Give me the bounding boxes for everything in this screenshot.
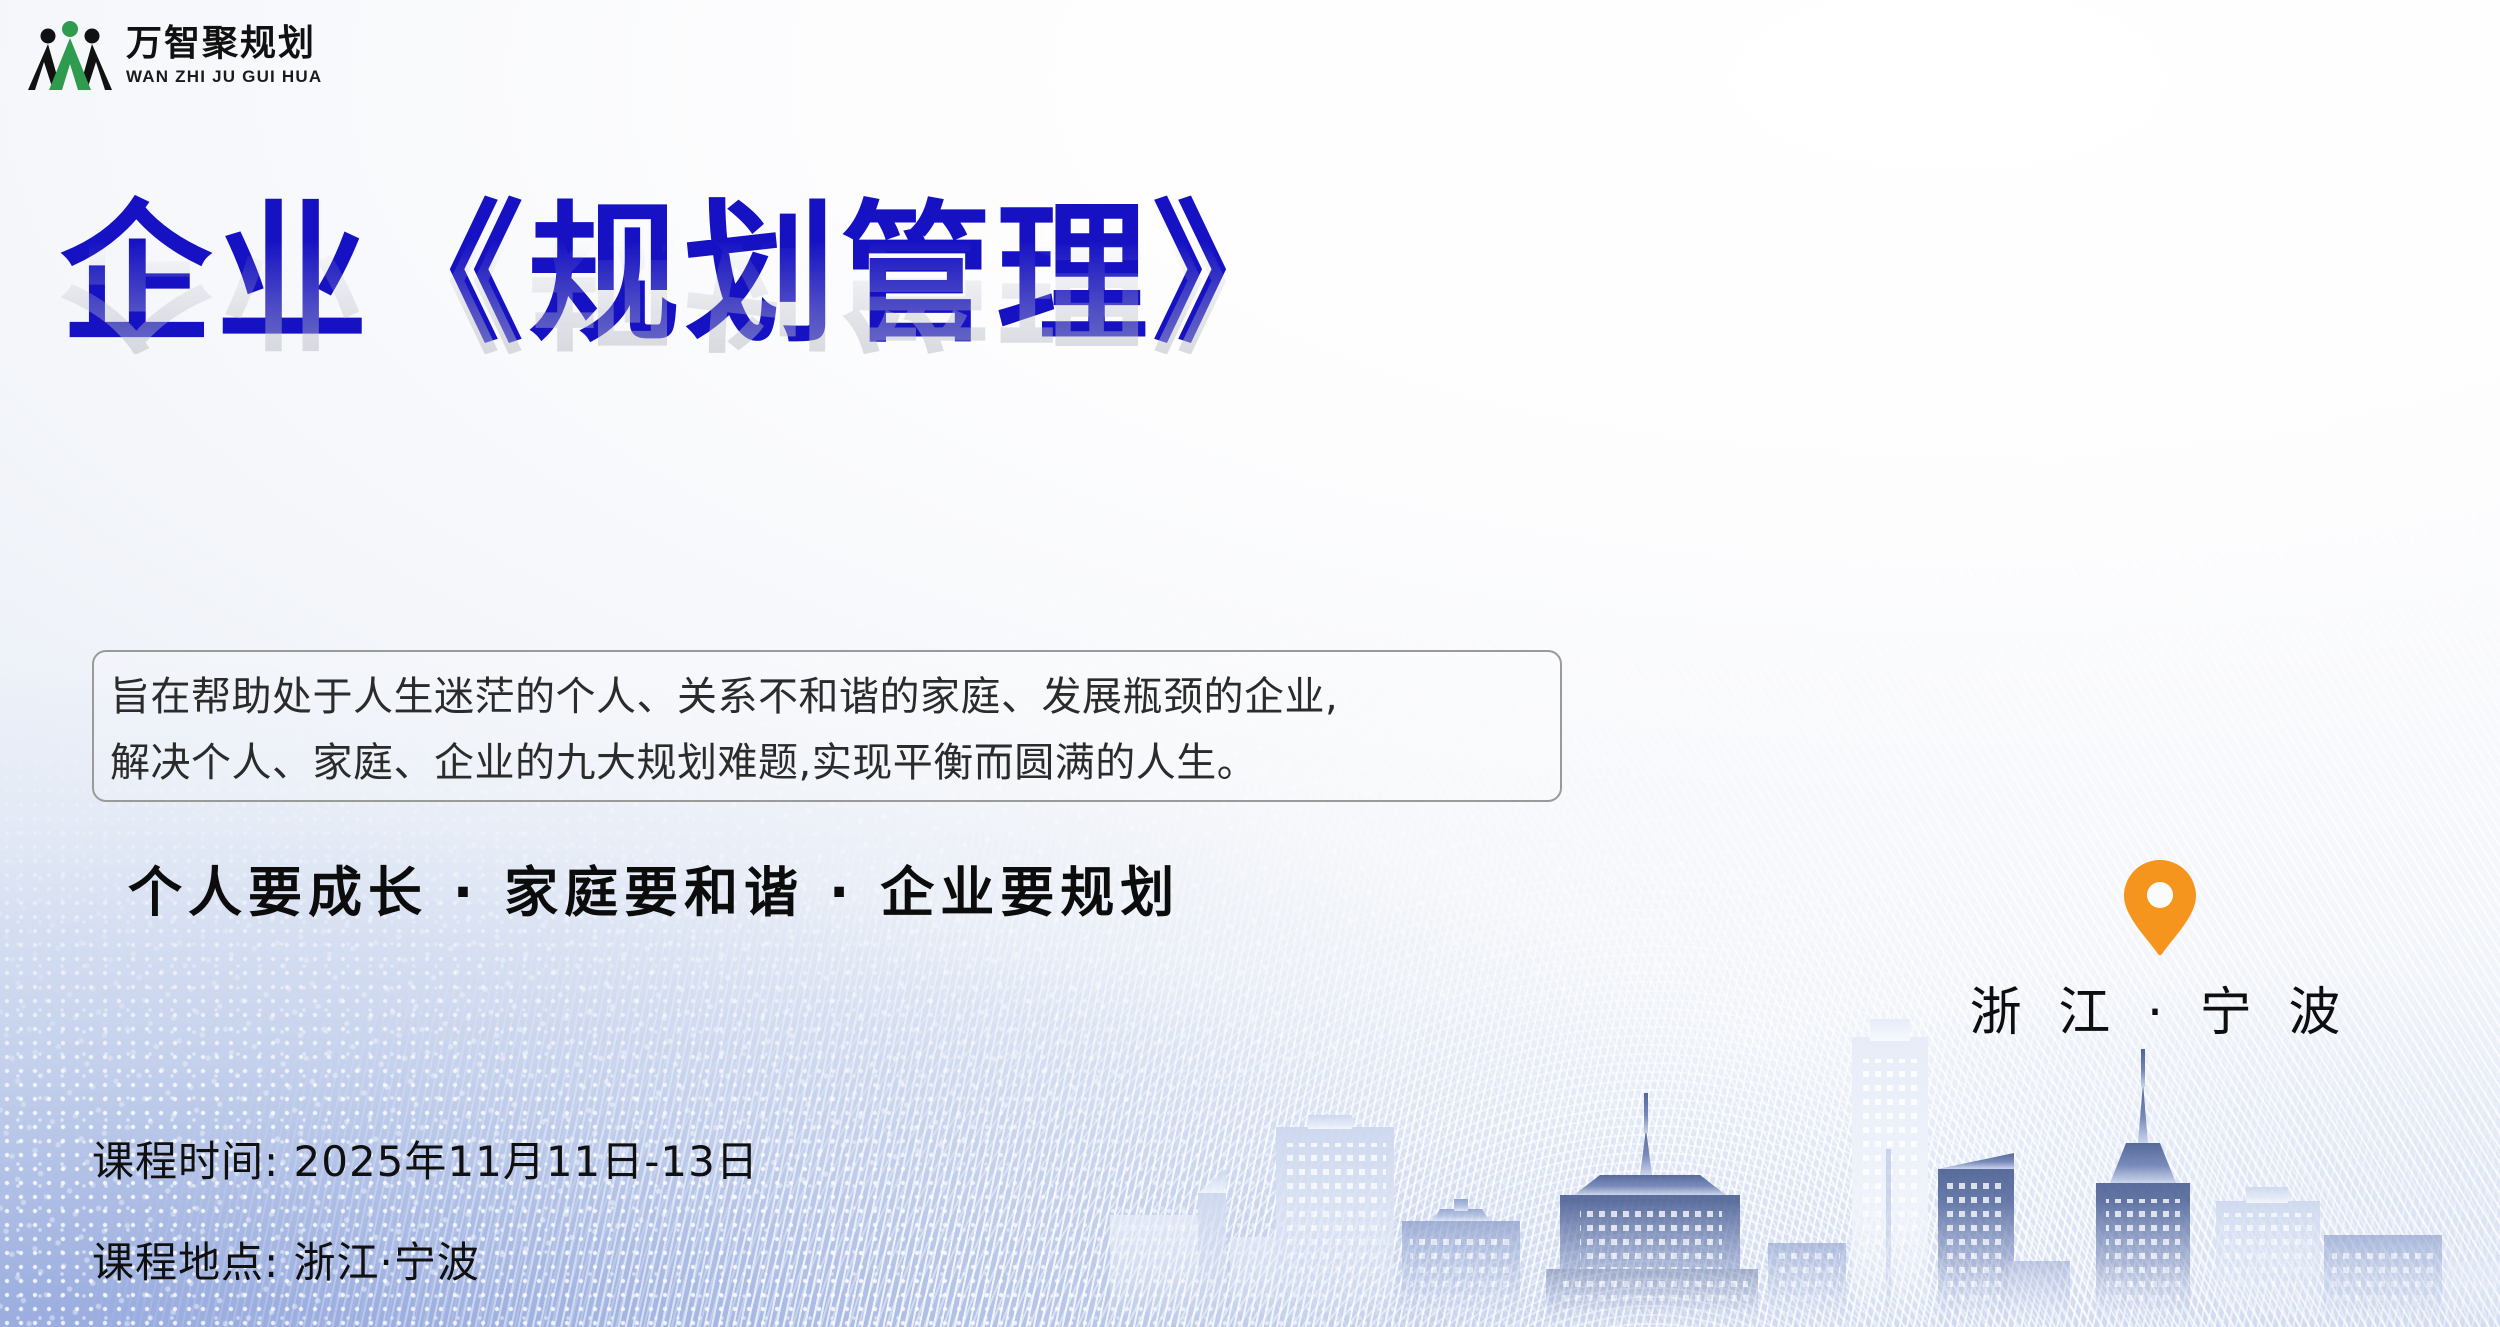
- city-skyline-icon: [1080, 997, 2500, 1327]
- headline-block: 企业《规划管理》 企业《规划管理》: [60, 196, 1620, 512]
- course-place-row: 课程地点: 浙江·宁波: [92, 1229, 759, 1290]
- brand-name-en: WAN ZHI JU GUI HUA: [126, 68, 322, 85]
- poster-canvas: 万智聚规划 WAN ZHI JU GUI HUA 企业《规划管理》 企业《规划管…: [0, 0, 2500, 1327]
- description-line-2: 解决个人、家庭、企业的九大规划难题,实现平衡而圆满的人生。: [110, 730, 1542, 796]
- page-title-reflection: 企业《规划管理》: [60, 196, 1620, 354]
- three-people-logo-icon: [28, 18, 112, 92]
- tagline: 个人要成长 · 家庭要和谐 · 企业要规划: [128, 848, 1180, 927]
- brand-name-cn: 万智聚规划: [126, 25, 322, 61]
- map-pin-icon: [2123, 860, 2197, 956]
- description-line-1: 旨在帮助处于人生迷茫的个人、关系不和谐的家庭、发展瓶颈的企业,: [110, 664, 1542, 730]
- brand-text: 万智聚规划 WAN ZHI JU GUI HUA: [126, 25, 322, 85]
- brand-logo[interactable]: 万智聚规划 WAN ZHI JU GUI HUA: [28, 18, 322, 92]
- course-time-row: 课程时间: 2025年11月11日-13日: [92, 1128, 759, 1189]
- location-label: 浙 江 · 宁 波: [1970, 970, 2351, 1045]
- course-info: 课程时间: 2025年11月11日-13日 课程地点: 浙江·宁波: [92, 1128, 759, 1290]
- description-box: 旨在帮助处于人生迷茫的个人、关系不和谐的家庭、发展瓶颈的企业, 解决个人、家庭、…: [92, 650, 1562, 802]
- location-block: 浙 江 · 宁 波: [1950, 860, 2370, 1045]
